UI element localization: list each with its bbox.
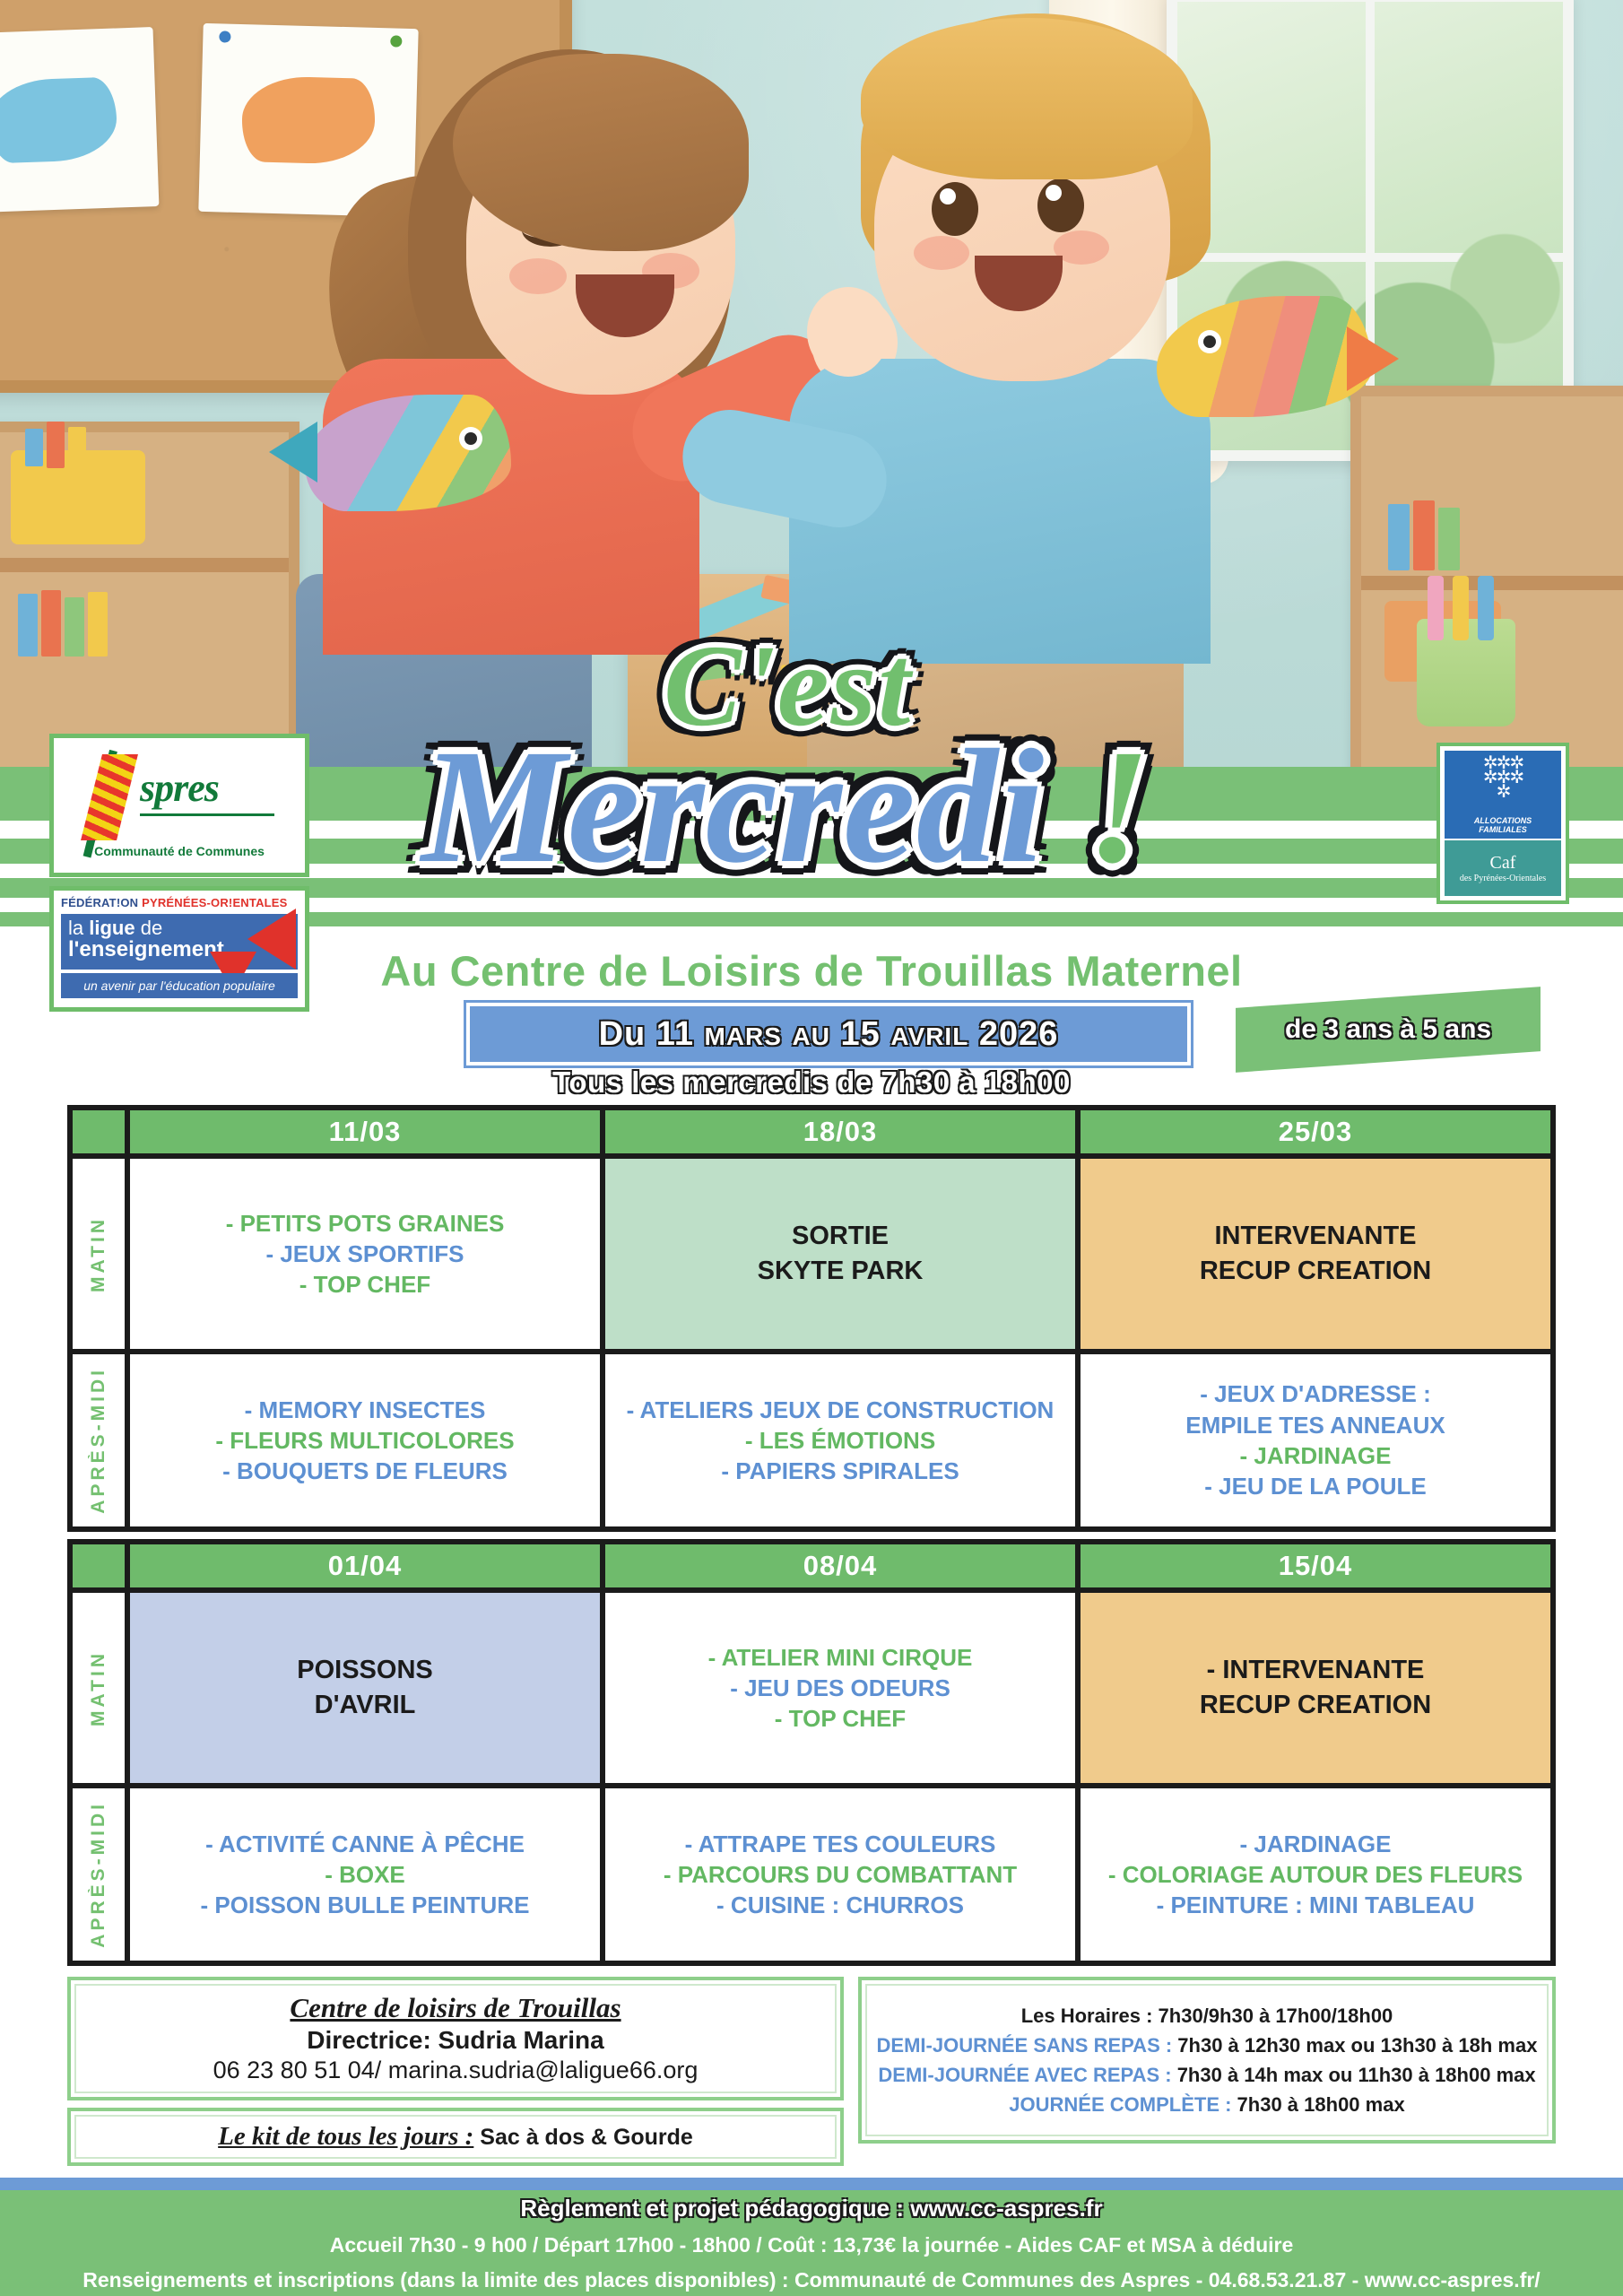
date-month2: AVRIL (890, 1022, 968, 1050)
hours-info-label: JOURNÉE COMPLÈTE : (1009, 2093, 1231, 2116)
date-header-cell: 08/04 (605, 1544, 1081, 1587)
pencil (1428, 576, 1444, 640)
activity-line: - INTERVENANTE (1207, 1653, 1425, 1688)
pin-icon (219, 30, 230, 42)
book (41, 590, 61, 657)
weekly-hours-line: Tous les mercredis de 7h30 à 18h00 (0, 1065, 1623, 1100)
caf-name: Caf (1490, 853, 1516, 874)
activity-line: - JEU DE LA POULE (1204, 1471, 1427, 1501)
age-badge-text: de 3 ans à 5 ans (1285, 1014, 1491, 1045)
activity-line: - TOP CHEF (299, 1269, 430, 1300)
aspres-wordmark: spres (140, 765, 219, 811)
date-header-cell: 18/03 (605, 1110, 1081, 1153)
hours-info-line: DEMI-JOURNÉE SANS REPAS : 7h30 à 12h30 m… (877, 2034, 1538, 2057)
pencil (1453, 576, 1469, 640)
hours-info-line: JOURNÉE COMPLÈTE : 7h30 à 18h00 max (1009, 2093, 1404, 2117)
activity-line: - ATTRAPE TES COULEURS (685, 1829, 996, 1859)
activity-cell: - JARDINAGE- COLORIAGE AUTOUR DES FLEURS… (1081, 1788, 1550, 1961)
caf-allocations-label: ALLOCATIONS (1474, 816, 1532, 825)
director-name: Directrice: Sudria Marina (85, 2024, 826, 2056)
row-label-morning-text: MATIN (88, 1650, 109, 1726)
book (18, 594, 38, 657)
activity-line: - COLORIAGE AUTOUR DES FLEURS (1108, 1859, 1523, 1890)
date-range-box: Du 11 MARS AU 15 AVRIL 2026 (466, 1003, 1191, 1065)
date-prefix: Du (599, 1015, 647, 1053)
date-day1: 11 (656, 1015, 694, 1053)
hours-info-value: 7h30/9h30 à 17h00/18h00 (1152, 2005, 1393, 2027)
ligue-tagline: un avenir par l'éducation populaire (61, 973, 298, 998)
activity-line: EMPILE TES ANNEAUX (1185, 1410, 1445, 1440)
date-header-cell: 01/04 (130, 1544, 605, 1587)
activity-line: - PETITS POTS GRAINES (226, 1208, 505, 1239)
date-header-label: 01/04 (328, 1550, 403, 1582)
blue-fish-drawing-icon (0, 77, 118, 164)
footer-pricing: Accueil 7h30 - 9 h00 / Départ 17h00 - 18… (330, 2233, 1294, 2257)
date-day2: 15 (841, 1015, 881, 1053)
hours-info-line: DEMI-JOURNÉE AVEC REPAS : 7h30 à 14h max… (878, 2064, 1535, 2087)
logo-aspres[interactable]: spres Communauté de Communes (49, 734, 309, 877)
activity-line: - PARCOURS DU COMBATTANT (664, 1859, 1017, 1890)
contact-box-inner: Centre de loisirs de Trouillas Directric… (74, 1984, 837, 2093)
activity-line: RECUP CREATION (1200, 1688, 1431, 1723)
activity-line: - ACTIVITÉ CANNE À PÊCHE (205, 1829, 525, 1859)
hours-info-label: DEMI-JOURNÉE SANS REPAS : (877, 2034, 1173, 2057)
book (65, 597, 84, 657)
activity-cell: - MEMORY INSECTES- FLEURS MULTICOLORES- … (130, 1354, 605, 1526)
activity-cell: - ATELIER MINI CIRQUE- JEU DES ODEURS- T… (605, 1593, 1081, 1783)
book (25, 429, 43, 466)
boy-cheek-left (914, 236, 969, 270)
activity-cell: INTERVENANTERECUP CREATION (1081, 1159, 1550, 1349)
date-row: Du 11 MARS AU 15 AVRIL 2026 de 3 ans à 5… (0, 1003, 1623, 1074)
date-year: 2026 (979, 1015, 1059, 1053)
boy-eye-right (1037, 178, 1084, 232)
ligue-department-label: PYRÉNÉES-OR!ENTALES (142, 896, 287, 909)
schedule-table-march: 11/0318/0325/03MATIN- PETITS POTS GRAINE… (67, 1105, 1556, 1532)
activity-cell: - INTERVENANTERECUP CREATION (1081, 1593, 1550, 1783)
date-header-cell: 25/03 (1081, 1110, 1550, 1153)
activity-cell: - ATELIERS JEUX DE CONSTRUCTION- LES ÉMO… (605, 1354, 1081, 1526)
hours-box-inner: Les Horaires : 7h30/9h30 à 17h00/18h00DE… (865, 1984, 1549, 2136)
activity-line: - JARDINAGE (1239, 1829, 1391, 1859)
activity-cell: SORTIESKYTE PARK (605, 1159, 1081, 1349)
age-badge: de 3 ans à 5 ans (1236, 987, 1541, 1073)
book (1388, 504, 1410, 570)
activity-line: D'AVRIL (315, 1688, 416, 1723)
paper-fish-tail (269, 422, 317, 483)
girl-cheek-left (509, 258, 567, 294)
morning-row: MATIN- PETITS POTS GRAINES- JEUX SPORTIF… (73, 1159, 1550, 1354)
book (68, 427, 86, 468)
row-label-afternoon: APRÈS-MIDI (73, 1354, 130, 1526)
activity-line: - JEUX SPORTIFS (265, 1239, 464, 1269)
paper-fish-eye (459, 427, 482, 450)
hours-info-value: 7h30 à 14h max ou 11h30 à 18h00 max (1172, 2064, 1536, 2086)
activity-line: - JEUX D'ADRESSE : (1200, 1378, 1431, 1409)
kit-box-inner: Le kit de tous les jours : Sac à dos & G… (74, 2115, 837, 2159)
activity-line: INTERVENANTE (1214, 1219, 1416, 1254)
row-label-morning-text: MATIN (88, 1216, 109, 1292)
activity-cell: - JEUX D'ADRESSE :EMPILE TES ANNEAUX- JA… (1081, 1354, 1550, 1526)
footer-band: Règlement et projet pédagogique : www.cc… (0, 2190, 1623, 2296)
date-header-label: 25/03 (1279, 1116, 1353, 1148)
activity-line: - FLEURS MULTICOLORES (215, 1425, 514, 1456)
pinned-drawing-blue-fish (0, 27, 159, 213)
hours-info-label: DEMI-JOURNÉE AVEC REPAS : (878, 2064, 1171, 2086)
ligue-federation-label: FÉDÉRAT!ON (61, 896, 138, 909)
hours-info-value: 7h30 à 12h30 max ou 13h30 à 18h max (1172, 2034, 1537, 2057)
schedule-table-april: 01/0408/0415/04MATINPOISSONSD'AVRIL- ATE… (67, 1539, 1556, 1966)
hours-column: Les Horaires : 7h30/9h30 à 17h00/18h00DE… (858, 1977, 1556, 2144)
hours-info-value: 7h30 à 18h00 max (1231, 2093, 1404, 2116)
weekly-hours-text: Tous les mercredis de 7h30 à 18h00 (552, 1065, 1071, 1099)
book (1413, 500, 1435, 570)
hours-box: Les Horaires : 7h30/9h30 à 17h00/18h00DE… (858, 1977, 1556, 2144)
row-label-afternoon-text: APRÈS-MIDI (88, 1367, 109, 1514)
activity-cell: - ATTRAPE TES COULEURS- PARCOURS DU COMB… (605, 1788, 1081, 1961)
row-label-morning: MATIN (73, 1593, 130, 1783)
caf-bottom-block: Caf des Pyrénées-Orientales (1445, 840, 1561, 896)
row-label-morning: MATIN (73, 1159, 130, 1349)
morning-row: MATINPOISSONSD'AVRIL- ATELIER MINI CIRQU… (73, 1593, 1550, 1788)
boy-hand (807, 287, 890, 377)
activity-line: - MEMORY INSECTES (245, 1395, 486, 1425)
date-range-text: Du 11 MARS AU 15 AVRIL 2026 (599, 1015, 1059, 1054)
activity-line: - BOUQUETS DE FLEURS (222, 1456, 508, 1486)
paper-fish-eye (1198, 330, 1221, 353)
row-label-afternoon: APRÈS-MIDI (73, 1788, 130, 1961)
pencil (1478, 576, 1494, 640)
afternoon-row: APRÈS-MIDI- ACTIVITÉ CANNE À PÊCHE- BOXE… (73, 1788, 1550, 1961)
hours-info-label: Les Horaires : (1021, 2005, 1153, 2027)
activity-line: - LES ÉMOTIONS (745, 1425, 935, 1456)
hero-illustration (0, 0, 1623, 789)
date-header-cell: 11/03 (130, 1110, 605, 1153)
table-header-row: 11/0318/0325/03 (73, 1110, 1550, 1159)
kit-label: Le kit de tous les jours : (218, 2122, 473, 2151)
shelf-plank (0, 558, 289, 572)
logo-ligue-enseignement[interactable]: FÉDÉRAT!ON PYRÉNÉES-OR!ENTALES la ligue … (49, 886, 309, 1012)
activity-line: SORTIE (792, 1219, 889, 1254)
activity-line: - POISSON BULLE PEINTURE (201, 1890, 530, 1920)
orange-fish-drawing-icon (240, 75, 376, 165)
pin-icon (390, 35, 402, 47)
date-header-label: 11/03 (329, 1116, 402, 1148)
activity-cell: - ACTIVITÉ CANNE À PÊCHE- BOXE- POISSON … (130, 1788, 605, 1961)
contact-box: Centre de loisirs de Trouillas Directric… (67, 1977, 844, 2100)
caf-region: des Pyrénées-Orientales (1460, 874, 1546, 884)
date-au: AU (793, 1022, 830, 1050)
aspres-subtitle: Communauté de Communes (54, 844, 305, 858)
girl-mouth (576, 274, 674, 337)
corner-cell (73, 1544, 130, 1587)
hours-info-line: Les Horaires : 7h30/9h30 à 17h00/18h00 (1021, 2005, 1393, 2028)
activity-line: RECUP CREATION (1200, 1254, 1431, 1289)
row-label-afternoon-text: APRÈS-MIDI (88, 1801, 109, 1948)
date-header-label: 15/04 (1279, 1550, 1353, 1582)
logo-caf[interactable]: ✲✲✲✲✲✲✲ ALLOCATIONS FAMILIALES Caf des P… (1436, 743, 1569, 904)
pencil-cup (1417, 619, 1515, 726)
activity-line: - ATELIERS JEUX DE CONSTRUCTION (627, 1395, 1055, 1425)
date-month1: MARS (705, 1022, 782, 1050)
date-header-label: 08/04 (803, 1550, 878, 1582)
table-header-row: 01/0408/0415/04 (73, 1544, 1550, 1593)
date-header-label: 18/03 (803, 1116, 878, 1148)
info-bar: Centre de loisirs de Trouillas Directric… (67, 1977, 1556, 2144)
kit-box: Le kit de tous les jours : Sac à dos & G… (67, 2108, 844, 2166)
footer-contact[interactable]: Renseignements et inscriptions (dans la … (82, 2268, 1540, 2292)
caf-people-stars-icon: ✲✲✲✲✲✲✲ (1445, 756, 1561, 799)
caf-familiales-label: FAMILIALES (1479, 825, 1527, 834)
activity-cell: POISSONSD'AVRIL (130, 1593, 605, 1783)
activity-line: - PEINTURE : MINI TABLEAU (1157, 1890, 1475, 1920)
paper-scrap (668, 655, 747, 685)
subtitle-text: Au Centre de Loisirs de Trouillas Matern… (380, 947, 1242, 995)
phone-email[interactable]: 06 23 80 51 04/ marina.sudria@laligue66.… (85, 2056, 826, 2086)
activity-cell: - PETITS POTS GRAINES- JEUX SPORTIFS- TO… (130, 1159, 605, 1349)
center-name: Centre de loisirs de Trouillas (85, 1991, 826, 2024)
boy-eye-left (932, 182, 978, 236)
activity-line: - JARDINAGE (1239, 1440, 1391, 1471)
footer-blue-divider (0, 2178, 1623, 2190)
ligue-ligue: ligue (89, 917, 135, 939)
footer-rules-link[interactable]: Règlement et projet pédagogique : www.cc… (520, 2195, 1102, 2222)
boy-hair-fringe (861, 18, 1193, 179)
ligue-la: la (68, 917, 89, 939)
ligue-de: de (135, 917, 163, 939)
activity-line: SKYTE PARK (758, 1254, 924, 1289)
book (1438, 508, 1460, 570)
caf-top-block: ✲✲✲✲✲✲✲ ALLOCATIONS FAMILIALES (1445, 751, 1561, 839)
contact-column: Centre de loisirs de Trouillas Directric… (67, 1977, 844, 2144)
kit-line: Le kit de tous les jours : Sac à dos & G… (85, 2122, 826, 2152)
book (47, 422, 65, 468)
book (88, 592, 108, 657)
activity-line: - BOXE (325, 1859, 405, 1890)
date-header-cell: 15/04 (1081, 1544, 1550, 1587)
kit-value: Sac à dos & Gourde (473, 2125, 693, 2150)
paper-fish-tail (1347, 326, 1399, 391)
corner-cell (73, 1110, 130, 1153)
aspres-underline (140, 813, 274, 816)
activity-line: - ATELIER MINI CIRQUE (708, 1642, 973, 1673)
activity-line: POISSONS (297, 1653, 433, 1688)
activity-line: - PAPIERS SPIRALES (721, 1456, 959, 1486)
activity-line: - CUISINE : CHURROS (716, 1890, 964, 1920)
afternoon-row: APRÈS-MIDI- MEMORY INSECTES- FLEURS MULT… (73, 1354, 1550, 1526)
ligue-federation-line: FÉDÉRAT!ON PYRÉNÉES-OR!ENTALES (61, 896, 298, 909)
activity-line: - TOP CHEF (775, 1703, 906, 1734)
boy-mouth (975, 256, 1063, 311)
activity-line: - JEU DES ODEURS (730, 1673, 950, 1703)
